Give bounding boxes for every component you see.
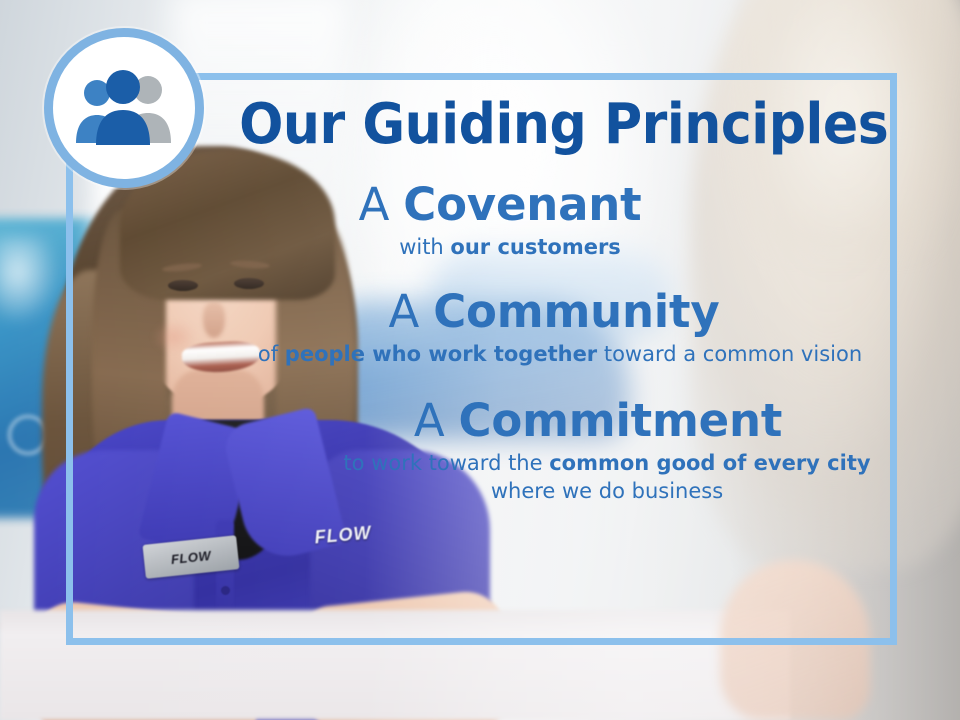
shirt-button-bottom (221, 586, 230, 595)
principle-covenant: A Covenant with our customers (150, 180, 880, 261)
people-group-icon (72, 69, 176, 147)
principle-commitment: A Commitment to work toward the common g… (150, 396, 880, 505)
principle-covenant-title: A Covenant (150, 180, 850, 230)
principle-community-subtitle: of people who work together toward a com… (228, 341, 880, 369)
foreground-customer-hand (720, 560, 870, 720)
principle-commitment-keyword: Commitment (459, 394, 783, 447)
page-title: Our Guiding Principles (239, 96, 853, 153)
principle-community-title: A Community (228, 287, 880, 337)
principle-commitment-subtitle: to work toward the common good of every … (316, 450, 880, 505)
principle-covenant-article: A (359, 178, 404, 231)
principle-community: A Community of people who work together … (150, 287, 880, 368)
principle-community-article: A (389, 285, 434, 338)
white-desk (0, 610, 790, 720)
people-icon-badge (44, 28, 204, 188)
principle-commitment-title: A Commitment (316, 396, 880, 446)
principle-community-keyword: Community (433, 285, 719, 338)
principle-covenant-subtitle: with our customers (150, 234, 850, 262)
principle-covenant-keyword: Covenant (403, 178, 641, 231)
poster-canvas: FLOW FLOW Our Guiding (0, 0, 960, 720)
principle-commitment-article: A (414, 394, 459, 447)
name-badge-text: FLOW (170, 547, 212, 566)
principles-list: A Covenant with our customers A Communit… (150, 180, 880, 515)
